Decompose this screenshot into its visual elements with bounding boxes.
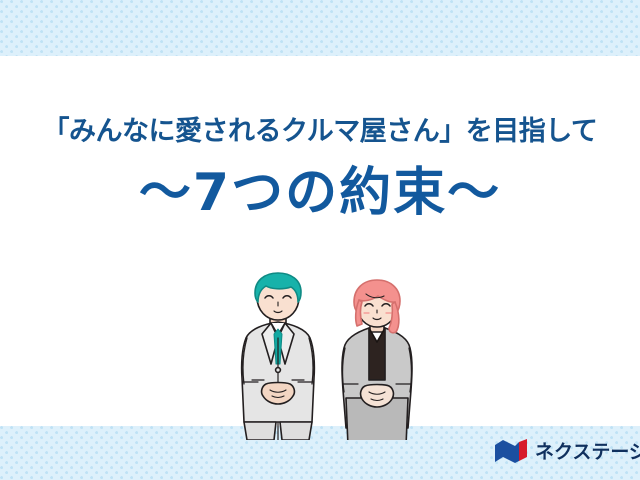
nexstage-logo-text: ネクステージ — [535, 437, 640, 464]
two-bowing-staff-illustration — [238, 272, 428, 440]
slide-canvas: 「みんなに愛されるクルマ屋さん」を目指して 〜7つの約束〜 — [0, 0, 640, 480]
nexstage-logo: ネクステージ — [494, 437, 640, 464]
headline-line-secondary: 〜7つの約束〜 — [0, 162, 640, 224]
female-staff-figure — [342, 280, 412, 440]
nexstage-n-logo-icon — [494, 438, 528, 464]
headline-line-primary: 「みんなに愛されるクルマ屋さん」を目指して — [0, 112, 640, 152]
male-staff-figure — [242, 273, 315, 440]
top-polka-dot-band — [0, 0, 640, 56]
headline-block: 「みんなに愛されるクルマ屋さん」を目指して 〜7つの約束〜 — [0, 112, 640, 224]
